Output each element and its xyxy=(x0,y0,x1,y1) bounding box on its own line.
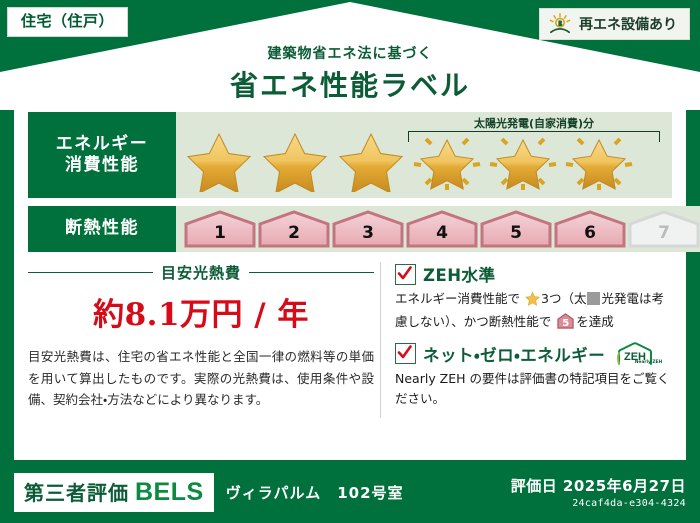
bels-jp-label: 第三者評価 xyxy=(24,477,129,506)
star-solar xyxy=(486,126,560,192)
evaluation-date: 評価日 2025年6月27日 xyxy=(511,475,686,496)
utility-cost-heading-text: 目安光熱費 xyxy=(161,262,241,283)
zeh-body-part2: 3つ（太 xyxy=(541,291,586,306)
insulation-level-value: 5 xyxy=(480,223,552,243)
insulation-performance-body: 1 2 3 4 xyxy=(176,206,700,252)
insulation-level-value: 2 xyxy=(258,223,330,243)
utility-cost-value: 約8.1万円 / 年 xyxy=(28,289,374,334)
utility-cost-column: 目安光熱費 約8.1万円 / 年 目安光熱費は、住宅の省エネ性能と全国一律の燃料… xyxy=(28,262,380,418)
insulation-level-value: 4 xyxy=(406,223,478,243)
zeh-body-part4: を達成 xyxy=(576,314,614,329)
redacted-block xyxy=(587,292,600,305)
insulation-level-2: 2 xyxy=(258,210,330,248)
insulation-level-6: 6 xyxy=(554,210,626,248)
star-filled xyxy=(182,126,256,192)
insulation-level-5: 5 xyxy=(480,210,552,248)
bels-logo: 第三者評価 BELS xyxy=(14,473,214,512)
energy-performance-row: エネルギー 消費性能 太陽光発電(自家消費)分 xyxy=(28,112,672,198)
energy-performance-body: 太陽光発電(自家消費)分 xyxy=(176,112,672,198)
inline-house-badge: 5 xyxy=(557,313,574,329)
utility-cost-heading: 目安光熱費 xyxy=(28,262,374,283)
star-filled xyxy=(334,126,408,192)
zeh-standard-title-row: ZEH水準 xyxy=(395,262,672,286)
divider-left xyxy=(28,272,153,274)
insulation-level-1: 1 xyxy=(184,210,256,248)
zeh-standard-checkbox[interactable] xyxy=(395,264,416,285)
label-title-block: 建築物省エネ法に基づく 省エネ性能ラベル xyxy=(0,43,700,104)
renewable-energy-label: 再エネ設備あり xyxy=(579,14,677,34)
zeh-logo-subtext: Nearly ZEH xyxy=(635,361,663,366)
zeh-logo-icon: ZEH Nearly ZEH xyxy=(615,342,661,366)
star-filled xyxy=(258,126,332,192)
zeh-column: ZEH水準 エネルギー消費性能で 3つ（太光発電は考慮しない）、かつ断熱性能で … xyxy=(380,262,672,418)
inline-house-level: 5 xyxy=(557,319,574,329)
insulation-level-value: 6 xyxy=(554,223,626,243)
zeh-body-part1: エネルギー消費性能で xyxy=(395,291,520,306)
insulation-level-value: 3 xyxy=(332,223,404,243)
star-rating xyxy=(176,126,636,192)
net-zero-body: Nearly ZEH の要件は評価書の特記項目をご覧ください。 xyxy=(395,369,672,410)
insulation-level-3: 3 xyxy=(332,210,404,248)
title-subtitle: 建築物省エネ法に基づく xyxy=(0,43,700,63)
utility-cost-note: 目安光熱費は、住宅の省エネ性能と全国一律の燃料等の単価を用いて算出したものです。… xyxy=(28,346,374,411)
energy-label-line1: エネルギー xyxy=(56,134,149,155)
footer-right: 評価日 2025年6月27日 24caf4da-e304-4324 xyxy=(511,475,686,509)
insulation-level-value: 1 xyxy=(184,223,256,243)
net-zero-title-row: ネット・ゼロ・エネルギー ZEH Nearly ZEH xyxy=(395,342,672,366)
zeh-standard-block: ZEH水準 エネルギー消費性能で 3つ（太光発電は考慮しない）、かつ断熱性能で … xyxy=(395,262,672,333)
footer-bar: 第三者評価 BELS ヴィラパルム 102号室 評価日 2025年6月27日 2… xyxy=(0,461,700,523)
main-card: エネルギー 消費性能 太陽光発電(自家消費)分 xyxy=(14,102,686,460)
housing-type-label: 住宅（住戸） xyxy=(21,12,114,30)
insulation-level-7: 7 xyxy=(628,210,700,248)
building-name: ヴィラパルム 102号室 xyxy=(226,482,404,503)
insulation-level-value: 7 xyxy=(628,223,700,243)
insulation-level-scale: 1 2 3 4 xyxy=(176,210,700,248)
star-solar xyxy=(562,126,636,192)
star-solar xyxy=(410,126,484,192)
bels-en-label: BELS xyxy=(135,478,204,507)
renewable-energy-badge: 再エネ設備あり xyxy=(539,8,690,40)
housing-type-tab: 住宅（住戸） xyxy=(7,7,128,37)
evaluation-id: 24caf4da-e304-4324 xyxy=(511,498,686,509)
zeh-standard-title: ZEH水準 xyxy=(423,262,496,286)
insulation-performance-label: 断熱性能 xyxy=(28,206,176,252)
insulation-label-text: 断熱性能 xyxy=(65,218,139,239)
sun-icon xyxy=(548,13,572,35)
divider-right xyxy=(249,272,374,274)
lower-section: 目安光熱費 約8.1万円 / 年 目安光熱費は、住宅の省エネ性能と全国一律の燃料… xyxy=(28,262,672,418)
title-main: 省エネ性能ラベル xyxy=(0,64,700,104)
net-zero-title: ネット・ゼロ・エネルギー xyxy=(423,342,605,366)
energy-performance-label: エネルギー 消費性能 xyxy=(28,112,176,198)
zeh-standard-body: エネルギー消費性能で 3つ（太光発電は考慮しない）、かつ断熱性能で 5 を達成 xyxy=(395,289,672,333)
insulation-level-4: 4 xyxy=(406,210,478,248)
insulation-performance-row: 断熱性能 1 2 xyxy=(28,206,672,252)
energy-label-line2: 消費性能 xyxy=(65,155,139,176)
net-zero-energy-block: ネット・ゼロ・エネルギー ZEH Nearly ZEH Nearly ZEH の… xyxy=(395,342,672,410)
net-zero-checkbox[interactable] xyxy=(395,343,416,364)
inline-star-icon xyxy=(525,291,540,312)
